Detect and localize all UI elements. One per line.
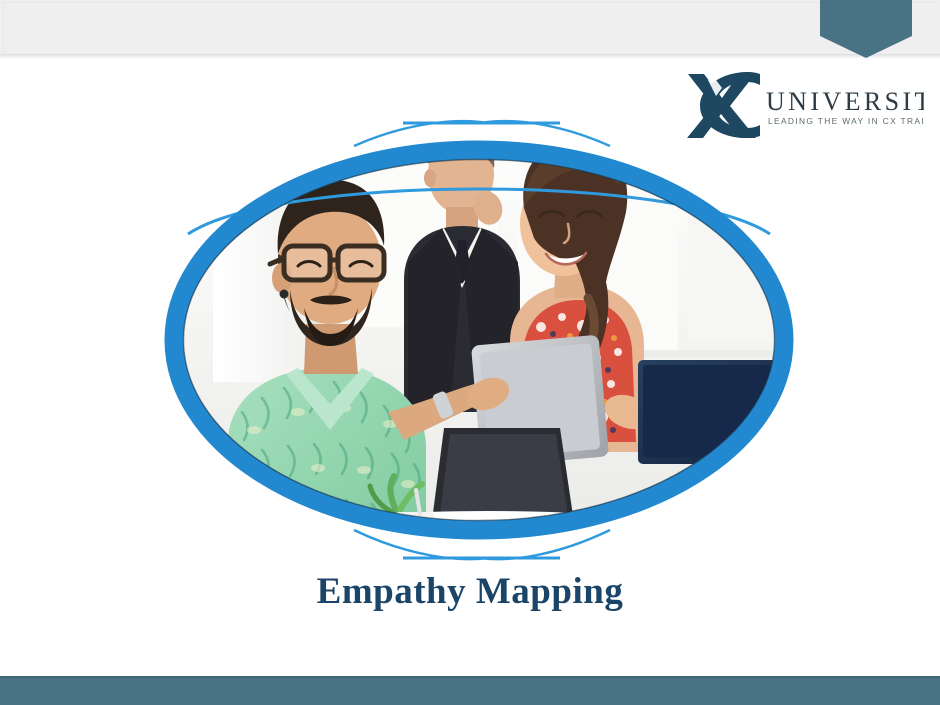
bottom-bar-top-edge [0,676,940,678]
page-title: Empathy Mapping [0,570,940,614]
hero-photo [158,112,800,567]
hero-image-frame [158,112,800,567]
bottom-bar [0,676,940,705]
top-band-shadow [0,55,940,59]
red-desk-item-2 [754,496,774,510]
top-band-inner-border [3,2,937,53]
top-band [0,0,940,55]
chairs-and-legs [386,560,600,567]
red-desk-item [714,498,748,510]
patterned-mug [628,508,674,560]
slide-canvas: UNIVERSITY LEADING THE WAY IN CX TRAININ… [0,0,940,705]
